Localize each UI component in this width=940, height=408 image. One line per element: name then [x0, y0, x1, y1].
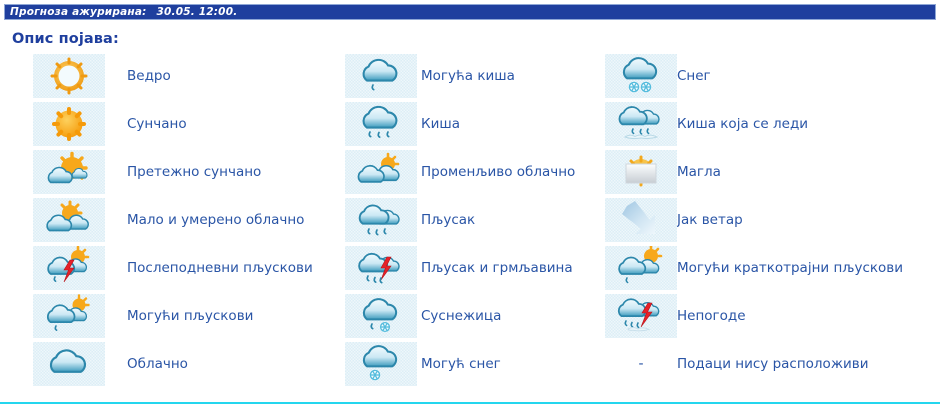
cloudy-icon: [33, 342, 105, 386]
forecast-updated-label: Прогноза ажурирана:: [10, 7, 147, 18]
list-item: Мало и умерено облачно: [33, 196, 333, 244]
partly-cloudy-icon: [33, 198, 105, 242]
list-item: Суснежица: [345, 292, 595, 340]
list-item: Јак ветар: [605, 196, 935, 244]
list-item: Могућа киша: [345, 52, 595, 100]
list-item: Претежно сунчано: [33, 148, 333, 196]
legend-column-3: Снег: [605, 52, 935, 388]
showers-icon: [345, 198, 417, 242]
strong-wind-arrow-icon: [605, 198, 677, 242]
divider: [0, 402, 940, 404]
list-item: Пљусак: [345, 196, 595, 244]
legend-label: Могућа киша: [421, 69, 515, 84]
legend-label: Пљусак: [421, 213, 475, 228]
legend-label: Променљиво облачно: [421, 165, 575, 180]
legend-column-2: Могућа киша: [345, 52, 595, 388]
no-data-dash-label: -: [605, 342, 677, 386]
legend-label: Снег: [677, 69, 711, 84]
legend-label: Ведро: [127, 69, 171, 84]
weather-legend-page: Прогноза ажурирана: 30.05. 12:00. Опис п…: [0, 0, 940, 408]
legend-label: Облачно: [127, 357, 188, 372]
legend-label: Непогоде: [677, 309, 746, 324]
sleet-icon: [345, 294, 417, 338]
legend-label: Могућ снег: [421, 357, 501, 372]
list-item: Магла: [605, 148, 935, 196]
page-title: Опис појава:: [12, 31, 119, 47]
list-item: Киша која се леди: [605, 100, 935, 148]
list-item: Непогоде: [605, 292, 935, 340]
legend-label: Могући краткотрајни пљускови: [677, 261, 903, 276]
snow-icon: [605, 54, 677, 98]
no-data-dash-icon: -: [605, 342, 677, 386]
showers-thunderstorm-icon: [345, 246, 417, 290]
possible-snow-icon: [345, 342, 417, 386]
legend-label: Пљусак и грмљавина: [421, 261, 573, 276]
list-item: - Подаци нису расположиви: [605, 340, 935, 388]
list-item: Киша: [345, 100, 595, 148]
severe-weather-icon: [605, 294, 677, 338]
possible-rain-icon: [345, 54, 417, 98]
fog-icon: [605, 150, 677, 194]
list-item: Пљусак и грмљавина: [345, 244, 595, 292]
variable-cloudy-icon: [345, 150, 417, 194]
legend-label: Киша: [421, 117, 460, 132]
legend-label: Јак ветар: [677, 213, 743, 228]
list-item: Могући пљускови: [33, 292, 333, 340]
list-item: Сунчано: [33, 100, 333, 148]
legend-label: Киша која се леди: [677, 117, 808, 132]
list-item: Снег: [605, 52, 935, 100]
legend-label: Могући пљускови: [127, 309, 253, 324]
forecast-updated-bar: Прогноза ажурирана: 30.05. 12:00.: [4, 4, 936, 20]
legend-label: Сунчано: [127, 117, 187, 132]
mostly-sunny-icon: [33, 150, 105, 194]
sunny-icon: [33, 102, 105, 146]
list-item: Променљиво облачно: [345, 148, 595, 196]
list-item: Могући краткотрајни пљускови: [605, 244, 935, 292]
legend-column-1: Ведро: [33, 52, 333, 388]
possible-showers-icon: [33, 294, 105, 338]
possible-brief-showers-icon: [605, 246, 677, 290]
list-item: Ведро: [33, 52, 333, 100]
legend-label: Подаци нису расположиви: [677, 357, 868, 372]
afternoon-showers-thunder-icon: [33, 246, 105, 290]
rain-icon: [345, 102, 417, 146]
legend-label: Суснежица: [421, 309, 501, 324]
clear-sun-ring-icon: [33, 54, 105, 98]
legend-label: Послеподневни пљускови: [127, 261, 313, 276]
legend-label: Магла: [677, 165, 721, 180]
freezing-rain-icon: [605, 102, 677, 146]
forecast-updated-value: 30.05. 12:00.: [157, 7, 238, 18]
list-item: Послеподневни пљускови: [33, 244, 333, 292]
legend-label: Мало и умерено облачно: [127, 213, 304, 228]
legend-label: Претежно сунчано: [127, 165, 261, 180]
list-item: Облачно: [33, 340, 333, 388]
list-item: Могућ снег: [345, 340, 595, 388]
